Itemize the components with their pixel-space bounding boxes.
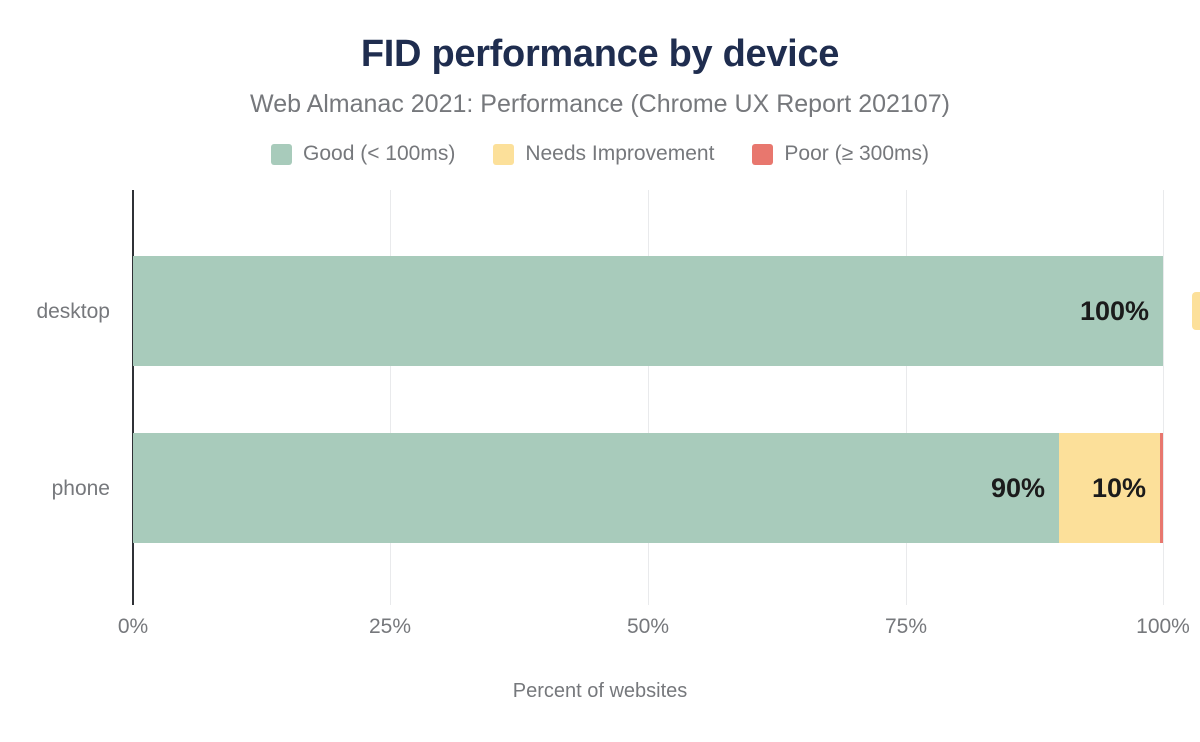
x-axis-tick-100: 100%	[1136, 614, 1190, 640]
bar-segment-phone-good[interactable]: 90%	[133, 433, 1059, 543]
bar-row-desktop: 100%	[133, 256, 1163, 366]
chart-container: FID performance by device Web Almanac 20…	[0, 0, 1200, 742]
x-axis-tick-25: 25%	[369, 614, 411, 640]
x-axis-tick-50: 50%	[627, 614, 669, 640]
plot-area: 100% 90% 10% desktop phone 0% 25% 50% 75…	[133, 190, 1200, 605]
legend-label-poor: Poor (≥ 300ms)	[784, 142, 929, 166]
bar-value-phone-good: 90%	[991, 473, 1059, 503]
legend-label-needs-improvement: Needs Improvement	[525, 142, 714, 166]
x-axis-title: Percent of websites	[0, 678, 1200, 704]
bar-segment-desktop-good[interactable]: 100%	[133, 256, 1163, 366]
legend-item-good[interactable]: Good (< 100ms)	[271, 142, 455, 166]
x-axis-tick-0: 0%	[118, 614, 148, 640]
legend-swatch-good-icon	[271, 144, 292, 165]
legend-item-poor[interactable]: Poor (≥ 300ms)	[752, 142, 929, 166]
bar-value-phone-needs-improvement: 10%	[1092, 473, 1160, 503]
y-axis-tick-desktop: desktop	[0, 300, 110, 324]
legend-label-good: Good (< 100ms)	[303, 142, 455, 166]
chart-legend: Good (< 100ms) Needs Improvement Poor (≥…	[0, 142, 1200, 166]
y-axis-tick-phone: phone	[0, 477, 110, 501]
bar-segment-desktop-needs-improvement-clipped[interactable]	[1192, 292, 1200, 330]
chart-title: FID performance by device	[0, 30, 1200, 78]
bar-segment-phone-needs-improvement[interactable]: 10%	[1059, 433, 1160, 543]
legend-item-needs-improvement[interactable]: Needs Improvement	[493, 142, 714, 166]
gridline-100	[1163, 190, 1164, 605]
chart-subtitle: Web Almanac 2021: Performance (Chrome UX…	[0, 88, 1200, 120]
bar-value-desktop-good: 100%	[1080, 296, 1163, 326]
bar-row-phone: 90% 10%	[133, 433, 1163, 543]
legend-swatch-needs-improvement-icon	[493, 144, 514, 165]
x-axis-tick-75: 75%	[885, 614, 927, 640]
legend-swatch-poor-icon	[752, 144, 773, 165]
bar-segment-phone-poor[interactable]	[1160, 433, 1163, 543]
